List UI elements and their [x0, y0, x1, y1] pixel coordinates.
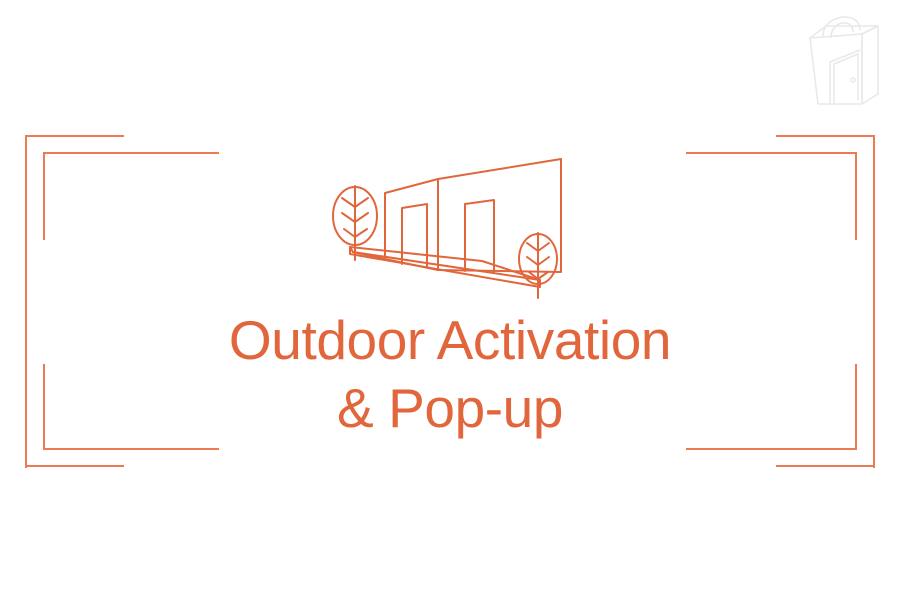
tree-right [519, 233, 557, 298]
slide-title: Outdoor Activation & Pop-up [0, 306, 900, 442]
bracket-top-left-inner [44, 153, 219, 240]
door-opening-left [402, 204, 427, 266]
door-opening-right [465, 200, 494, 273]
shopping-bag-icon [798, 8, 888, 118]
outdoor-storefront-illustration [322, 152, 572, 300]
corner-bracket-frame [0, 0, 900, 600]
wall-panel-right [438, 159, 561, 272]
bracket-top-right-inner [686, 153, 856, 240]
slide-title-line-2: & Pop-up [0, 374, 900, 442]
deck-platform-top [350, 247, 540, 280]
slide-title-line-1: Outdoor Activation [0, 306, 900, 374]
deck-platform-edge [350, 247, 540, 287]
slide-canvas: Outdoor Activation & Pop-up [0, 0, 900, 600]
